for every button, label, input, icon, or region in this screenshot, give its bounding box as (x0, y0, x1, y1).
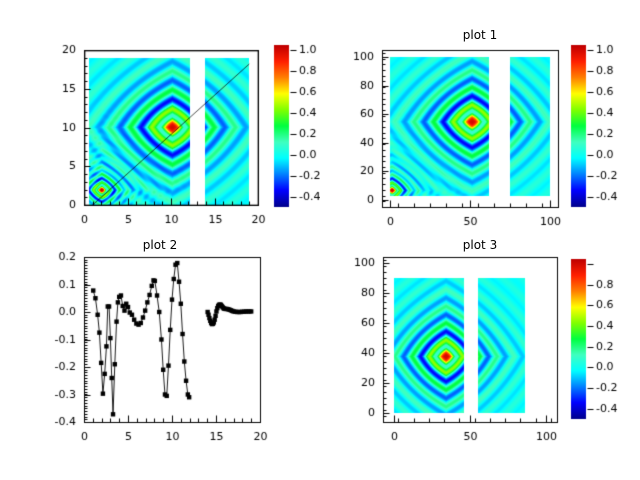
plot-top-right-canvas (320, 0, 640, 240)
panel-bottom-right: plot 3 (320, 240, 640, 480)
plot-bottom-right-canvas (320, 240, 640, 480)
plot-top-left-canvas (0, 0, 320, 240)
figure-canvas: plot 1 plot 2 plot 3 (0, 0, 640, 480)
plot-bottom-left-canvas (0, 240, 320, 480)
panel-top-right: plot 1 (320, 0, 640, 240)
panel-top-left (0, 0, 320, 240)
panel-bottom-left: plot 2 (0, 240, 320, 480)
